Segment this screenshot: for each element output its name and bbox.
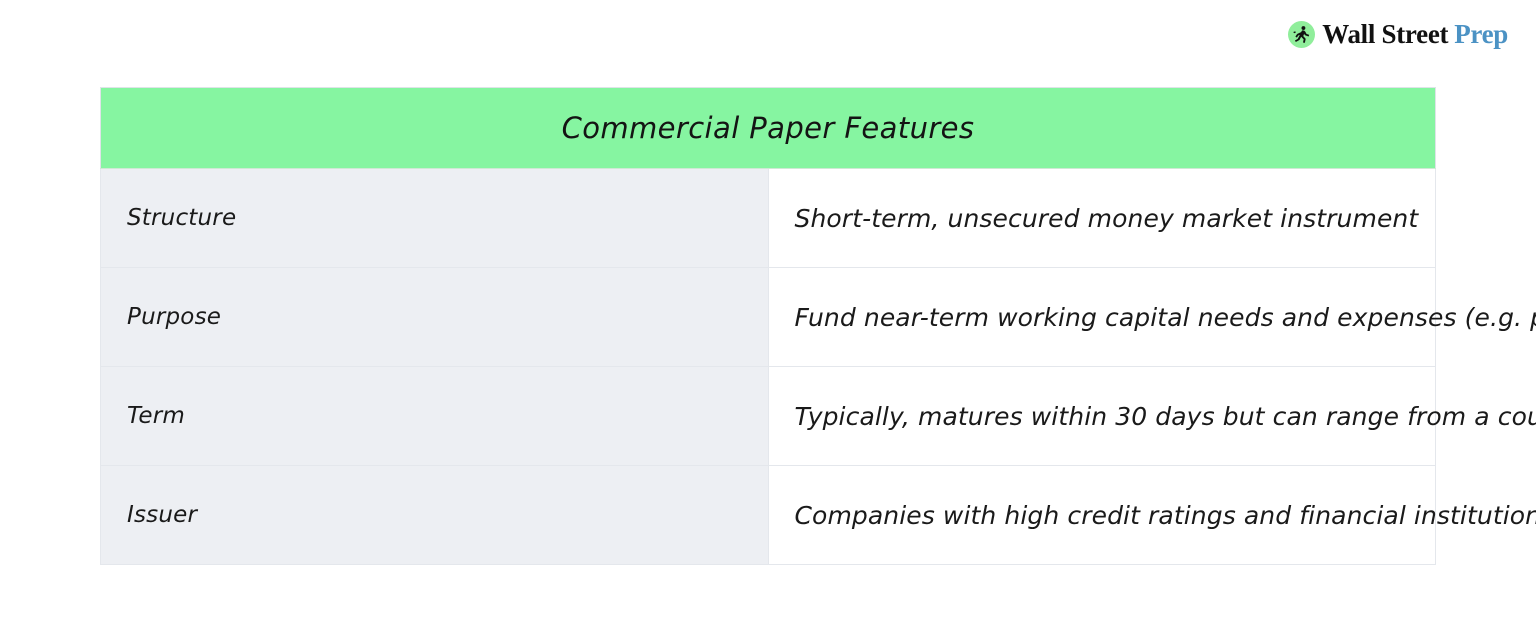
table-header-row: Commercial Paper Features bbox=[101, 88, 1436, 169]
table-title-cell: Commercial Paper Features bbox=[101, 88, 1436, 169]
row-label-term: Term bbox=[101, 367, 769, 466]
table-body: Structure Short-term, unsecured money ma… bbox=[101, 169, 1436, 565]
row-label-structure: Structure bbox=[101, 169, 769, 268]
row-value-term: Typically, matures within 30 days but ca… bbox=[768, 367, 1436, 466]
brand-name-primary: Wall Street bbox=[1322, 21, 1448, 48]
brand-logo: Wall StreetPrep bbox=[1288, 17, 1508, 51]
table-row: Term Typically, matures within 30 days b… bbox=[101, 367, 1436, 466]
brand-wordmark: Wall StreetPrep bbox=[1322, 21, 1508, 48]
wall-street-prep-bull-logo-icon bbox=[1288, 21, 1315, 48]
row-value-structure: Short-term, unsecured money market instr… bbox=[768, 169, 1436, 268]
row-label-issuer: Issuer bbox=[101, 466, 769, 565]
table-row: Structure Short-term, unsecured money ma… bbox=[101, 169, 1436, 268]
row-label-purpose: Purpose bbox=[101, 268, 769, 367]
row-value-issuer: Companies with high credit ratings and f… bbox=[768, 466, 1436, 565]
brand-name-secondary: Prep bbox=[1454, 21, 1508, 48]
row-value-purpose: Fund near-term working capital needs and… bbox=[768, 268, 1436, 367]
table-row: Purpose Fund near-term working capital n… bbox=[101, 268, 1436, 367]
page-title: Commercial Paper Features bbox=[562, 111, 975, 145]
commercial-paper-features-table: Commercial Paper Features Structure Shor… bbox=[100, 87, 1436, 565]
table-row: Issuer Companies with high credit rating… bbox=[101, 466, 1436, 565]
